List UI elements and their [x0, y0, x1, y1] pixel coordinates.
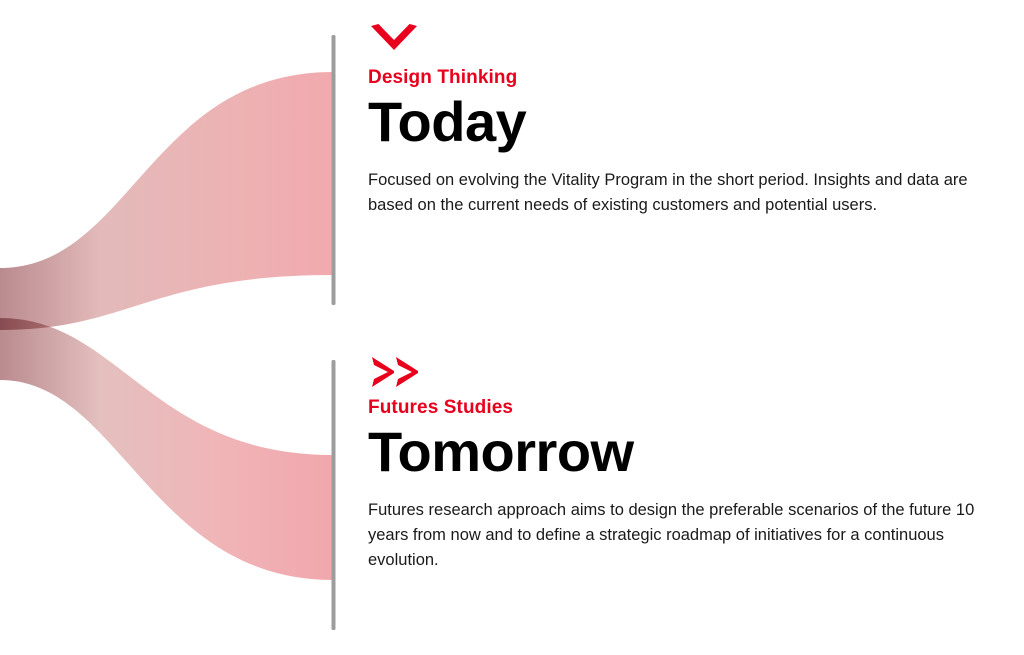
eyebrow-futures-studies: Futures Studies	[368, 396, 993, 420]
chevron-down-icon	[368, 22, 993, 62]
sankey-svg	[0, 0, 345, 655]
section-tomorrow: Futures Studies Tomorrow Futures researc…	[368, 352, 993, 572]
body-tomorrow: Futures research approach aims to design…	[368, 498, 990, 572]
destination-bar-tomorrow	[332, 360, 336, 630]
flow-ribbon-today	[0, 72, 333, 330]
destination-bar-today	[332, 35, 336, 305]
double-chevron-right-icon	[368, 352, 993, 392]
eyebrow-design-thinking: Design Thinking	[368, 66, 993, 90]
section-today: Design Thinking Today Focused on evolvin…	[368, 22, 993, 218]
slide-canvas: Design Thinking Today Focused on evolvin…	[0, 0, 1024, 655]
flow-ribbon-tomorrow	[0, 318, 333, 580]
title-tomorrow: Tomorrow	[368, 422, 993, 482]
body-today: Focused on evolving the Vitality Program…	[368, 168, 990, 218]
sankey-flow-diagram	[0, 0, 345, 655]
title-today: Today	[368, 92, 993, 152]
content-column: Design Thinking Today Focused on evolvin…	[368, 0, 1008, 655]
